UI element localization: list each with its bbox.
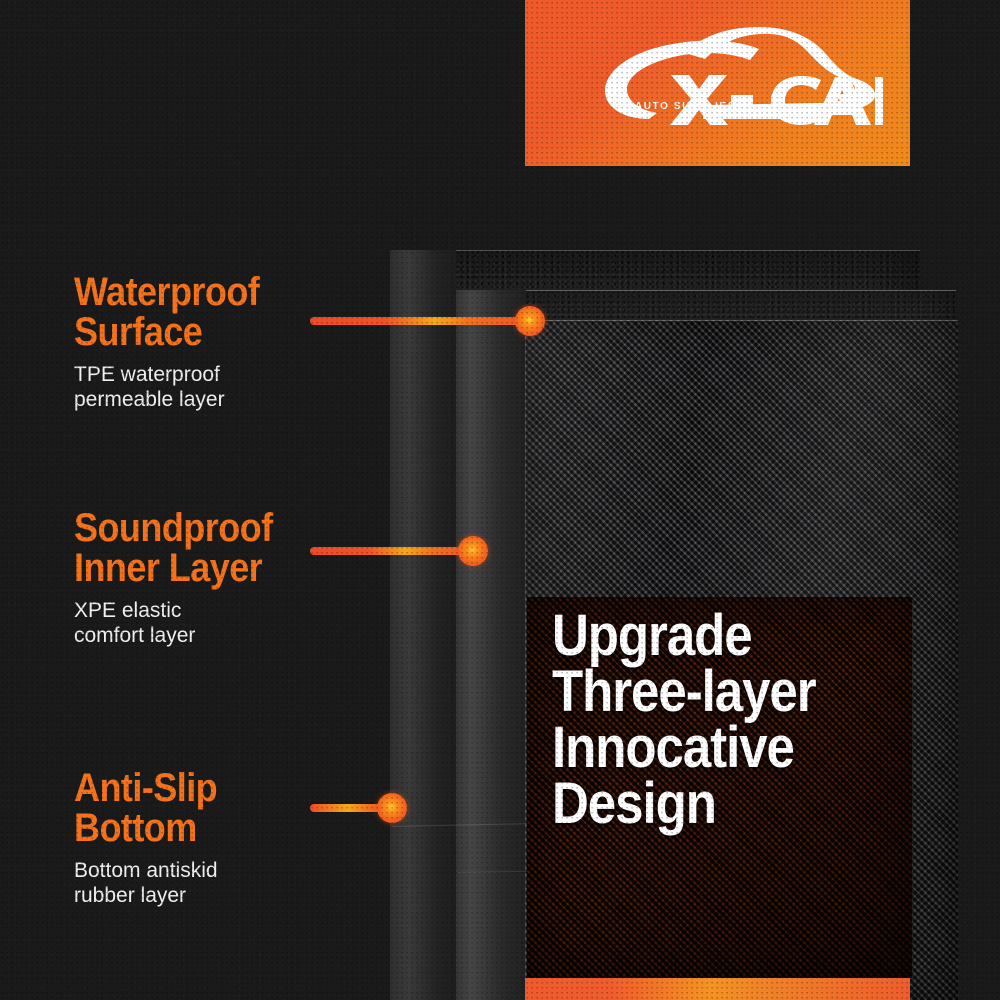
feature-subtitle-soundproof-inner-layer: XPE elastic comfort layer [74,598,344,648]
connector-line-waterproof-surface [310,317,532,325]
feature-subtitle-anti-slip-bottom: Bottom antiskid rubber layer [74,858,344,908]
poster-canvas: Upgrade Three-layer Innocative Design AU… [0,0,1000,1000]
feature-block-anti-slip-bottom: Anti-Slip Bottom Bottom antiskid rubber … [74,768,344,908]
mat-layer-middle-edge [456,290,526,1000]
brand-tagline: AUTO SUPPLIES [525,101,878,112]
feature-title-soundproof-inner-layer: Soundproof Inner Layer [74,508,317,588]
headline-text: Upgrade Three-layer Innocative Design [552,608,878,832]
feature-block-waterproof-surface: Waterproof Surface TPE waterproof permea… [74,272,344,412]
connector-dot-anti-slip-bottom [377,793,407,823]
connector-line-soundproof-inner-layer [310,547,475,555]
feature-title-waterproof-surface: Waterproof Surface [74,272,317,352]
mat-layer-bottom-edge [390,250,456,1000]
brand-logo-panel[interactable]: AUTO SUPPLIES [525,0,910,166]
feature-subtitle-waterproof-surface: TPE waterproof permeable layer [74,362,344,412]
car-silhouette-icon [553,23,883,143]
bottom-accent-bar [525,978,910,1000]
connector-dot-waterproof-surface [515,306,545,336]
connector-dot-soundproof-inner-layer [458,536,488,566]
feature-block-soundproof-inner-layer: Soundproof Inner Layer XPE elastic comfo… [74,508,344,648]
feature-title-anti-slip-bottom: Anti-Slip Bottom [74,768,317,848]
